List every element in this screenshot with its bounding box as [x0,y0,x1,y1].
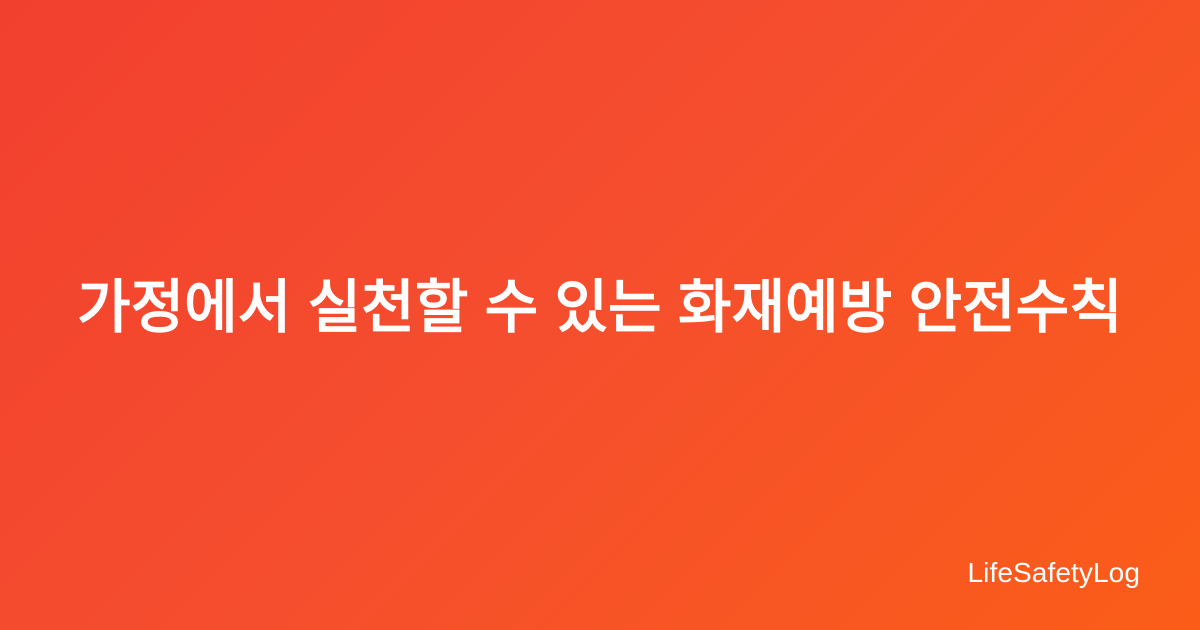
og-card: 가정에서 실천할 수 있는 화재예방 안전수칙 LifeSafetyLog [0,0,1200,630]
page-title: 가정에서 실천할 수 있는 화재예방 안전수칙 [60,265,1140,350]
title-container: 가정에서 실천할 수 있는 화재예방 안전수칙 [60,0,1140,630]
brand-wordmark: LifeSafetyLog [967,556,1140,590]
